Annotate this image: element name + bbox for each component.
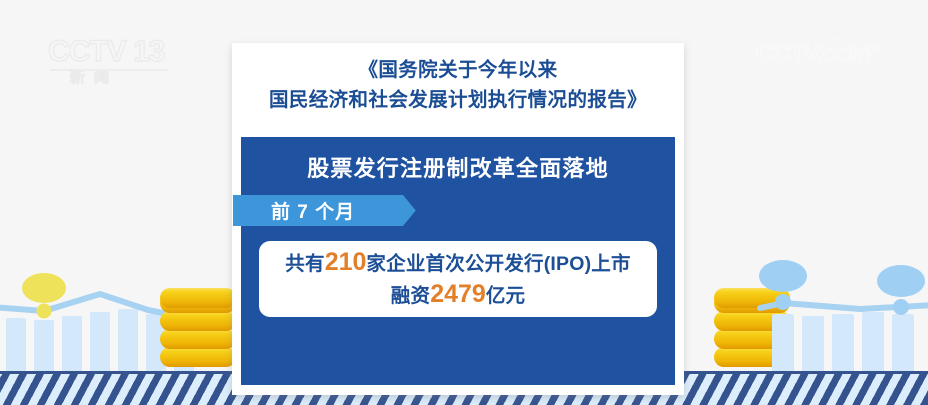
statistic-line-1-suffix: 家企业首次公开发行(IPO)上市 [366, 253, 630, 275]
period-ribbon: 前 7 个月 [233, 195, 425, 226]
cctv-com-watermark: CCTV.com 央视网 [756, 40, 906, 80]
statistic-box: 共有210家企业首次公开发行(IPO)上市 融资2479亿元 [259, 241, 657, 317]
cctv13-logo-rule [50, 69, 168, 71]
statistic-line-1-prefix: 共有 [285, 253, 324, 275]
cctv13-logo-main: CCTV 13 [48, 36, 172, 68]
right-balloon-1 [759, 260, 807, 292]
right-line-node-2 [893, 299, 909, 315]
card-title-line-1: 《国务院关于今年以来 [232, 55, 684, 85]
left-balloon [22, 273, 66, 303]
right-line-node-1 [775, 294, 791, 310]
card-title: 《国务院关于今年以来 国民经济和社会发展计划执行情况的报告》 [232, 55, 684, 115]
screenshot-root: CCTV 13 新闻 CCTV.com 央视网 《国务院关于今年以来 国民经济和… [0, 0, 928, 405]
cctv-com-swoosh-icon [808, 30, 866, 83]
panel-heading: 股票发行注册制改革全面落地 [241, 151, 675, 183]
blue-panel: 股票发行注册制改革全面落地 前 7 个月 共有210家企业首次公开发行(IPO)… [241, 137, 675, 385]
right-bar-chart [772, 312, 914, 373]
statistic-line-1: 共有210家企业首次公开发行(IPO)上市 [285, 247, 630, 279]
statistic-line-2-number: 2479 [430, 280, 486, 308]
left-scenery [0, 273, 236, 373]
left-line-node [37, 304, 52, 319]
cctv13-logo-sub: 新闻 [48, 69, 172, 87]
period-ribbon-label: 前 7 个月 [233, 197, 355, 224]
left-coin-stack [160, 288, 236, 367]
statistic-line-2-prefix: 融资 [391, 285, 430, 307]
cctv-com-watermark-cn: 央视网 [852, 42, 882, 55]
right-coin-stack [714, 288, 790, 367]
statistic-line-2-suffix: 亿元 [486, 285, 525, 307]
left-trend-line [0, 294, 188, 318]
info-card: 《国务院关于今年以来 国民经济和社会发展计划执行情况的报告》 股票发行注册制改革… [232, 43, 684, 395]
right-balloon-2 [877, 265, 925, 297]
cctv13-logo: CCTV 13 新闻 [48, 36, 172, 92]
card-title-line-2: 国民经济和社会发展计划执行情况的报告》 [232, 85, 684, 115]
right-scenery [714, 260, 928, 373]
right-trend-line [760, 303, 928, 309]
statistic-line-2: 融资2479亿元 [391, 279, 525, 311]
statistic-line-1-number: 210 [325, 248, 367, 276]
left-bar-chart [6, 309, 194, 373]
